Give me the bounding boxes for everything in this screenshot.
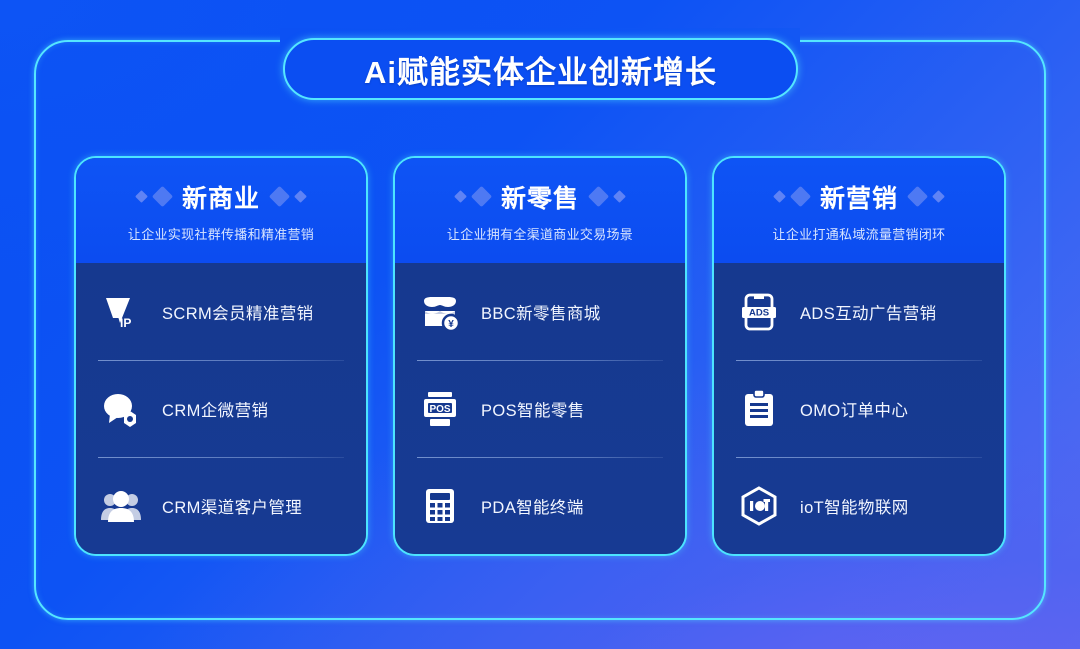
list-item[interactable]: ADS ADS互动广告营销 xyxy=(736,263,982,360)
users-group-icon xyxy=(98,483,144,529)
chat-bubble-icon xyxy=(98,386,144,432)
card-title: 新商业 xyxy=(179,179,263,215)
list-item-label: BBC新零售商城 xyxy=(481,300,601,324)
card-title-row: 新零售 xyxy=(456,179,624,215)
list-item[interactable]: IP SCRM会员精准营销 xyxy=(98,263,344,360)
list-item-label: OMO订单中心 xyxy=(800,397,908,421)
list-item-label: CRM渠道客户管理 xyxy=(162,494,302,518)
diamond-decor-icon xyxy=(454,190,467,203)
iot-hexagon-icon xyxy=(736,483,782,529)
list-item-label: SCRM会员精准营销 xyxy=(162,300,314,324)
card-title-row: 新营销 xyxy=(775,179,943,215)
card-header: 新商业 让企业实现社群传播和精准营销 xyxy=(76,158,366,263)
page-title-pill: Ai赋能实体企业创新增长 xyxy=(283,38,798,100)
diamond-decor-icon xyxy=(773,190,786,203)
card-subtitle: 让企业打通私域流量营销闭环 xyxy=(773,224,946,243)
card-item-list: ADS ADS互动广告营销 OMO订单中心 xyxy=(714,263,1004,554)
clipboard-order-icon xyxy=(736,386,782,432)
card-header: 新营销 让企业打通私域流量营销闭环 xyxy=(714,158,1004,263)
list-item[interactable]: POS POS智能零售 xyxy=(417,360,663,457)
ads-phone-icon: ADS xyxy=(736,289,782,335)
list-item-label: CRM企微营销 xyxy=(162,397,268,421)
card-subtitle: 让企业拥有全渠道商业交易场景 xyxy=(447,224,633,243)
diamond-decor-icon xyxy=(588,186,609,207)
list-item-label: ADS互动广告营销 xyxy=(800,300,937,324)
page-title: Ai赋能实体企业创新增长 xyxy=(364,47,717,92)
list-item-label: POS智能零售 xyxy=(481,397,585,421)
pda-keypad-icon xyxy=(417,483,463,529)
card-title: 新零售 xyxy=(498,179,582,215)
list-item[interactable]: OMO订单中心 xyxy=(736,360,982,457)
card-subtitle: 让企业实现社群传播和精准营销 xyxy=(128,224,314,243)
card-item-list: ¥ BBC新零售商城 POS POS智能零售 xyxy=(395,263,685,554)
list-item[interactable]: CRM渠道客户管理 xyxy=(98,457,344,554)
svg-text:IP: IP xyxy=(120,316,131,330)
card-header: 新零售 让企业拥有全渠道商业交易场景 xyxy=(395,158,685,263)
svg-text:ADS: ADS xyxy=(749,307,769,318)
columns-container: 新商业 让企业实现社群传播和精准营销 IP SCRM会员精准营销 xyxy=(74,156,1006,556)
card-new-marketing[interactable]: 新营销 让企业打通私域流量营销闭环 ADS ADS互动广告营销 xyxy=(712,156,1006,556)
list-item[interactable]: ioT智能物联网 xyxy=(736,457,982,554)
card-title: 新营销 xyxy=(817,179,901,215)
card-new-business[interactable]: 新商业 让企业实现社群传播和精准营销 IP SCRM会员精准营销 xyxy=(74,156,368,556)
list-item[interactable]: ¥ BBC新零售商城 xyxy=(417,263,663,360)
svg-text:POS: POS xyxy=(429,404,450,415)
diamond-decor-icon xyxy=(907,186,928,207)
diamond-decor-icon xyxy=(294,190,307,203)
vip-icon: IP xyxy=(98,289,144,335)
list-item-label: PDA智能终端 xyxy=(481,494,584,518)
card-new-retail[interactable]: 新零售 让企业拥有全渠道商业交易场景 ¥ BBC新零售商城 xyxy=(393,156,687,556)
diamond-decor-icon xyxy=(269,186,290,207)
storefront-icon: ¥ xyxy=(417,289,463,335)
diamond-decor-icon xyxy=(152,186,173,207)
diamond-decor-icon xyxy=(135,190,148,203)
list-item[interactable]: PDA智能终端 xyxy=(417,457,663,554)
list-item-label: ioT智能物联网 xyxy=(800,494,909,518)
diamond-decor-icon xyxy=(932,190,945,203)
diamond-decor-icon xyxy=(613,190,626,203)
pos-terminal-icon: POS xyxy=(417,386,463,432)
card-item-list: IP SCRM会员精准营销 CRM企微营销 xyxy=(76,263,366,554)
card-title-row: 新商业 xyxy=(137,179,305,215)
list-item[interactable]: CRM企微营销 xyxy=(98,360,344,457)
diamond-decor-icon xyxy=(471,186,492,207)
svg-text:¥: ¥ xyxy=(448,319,454,330)
diamond-decor-icon xyxy=(790,186,811,207)
